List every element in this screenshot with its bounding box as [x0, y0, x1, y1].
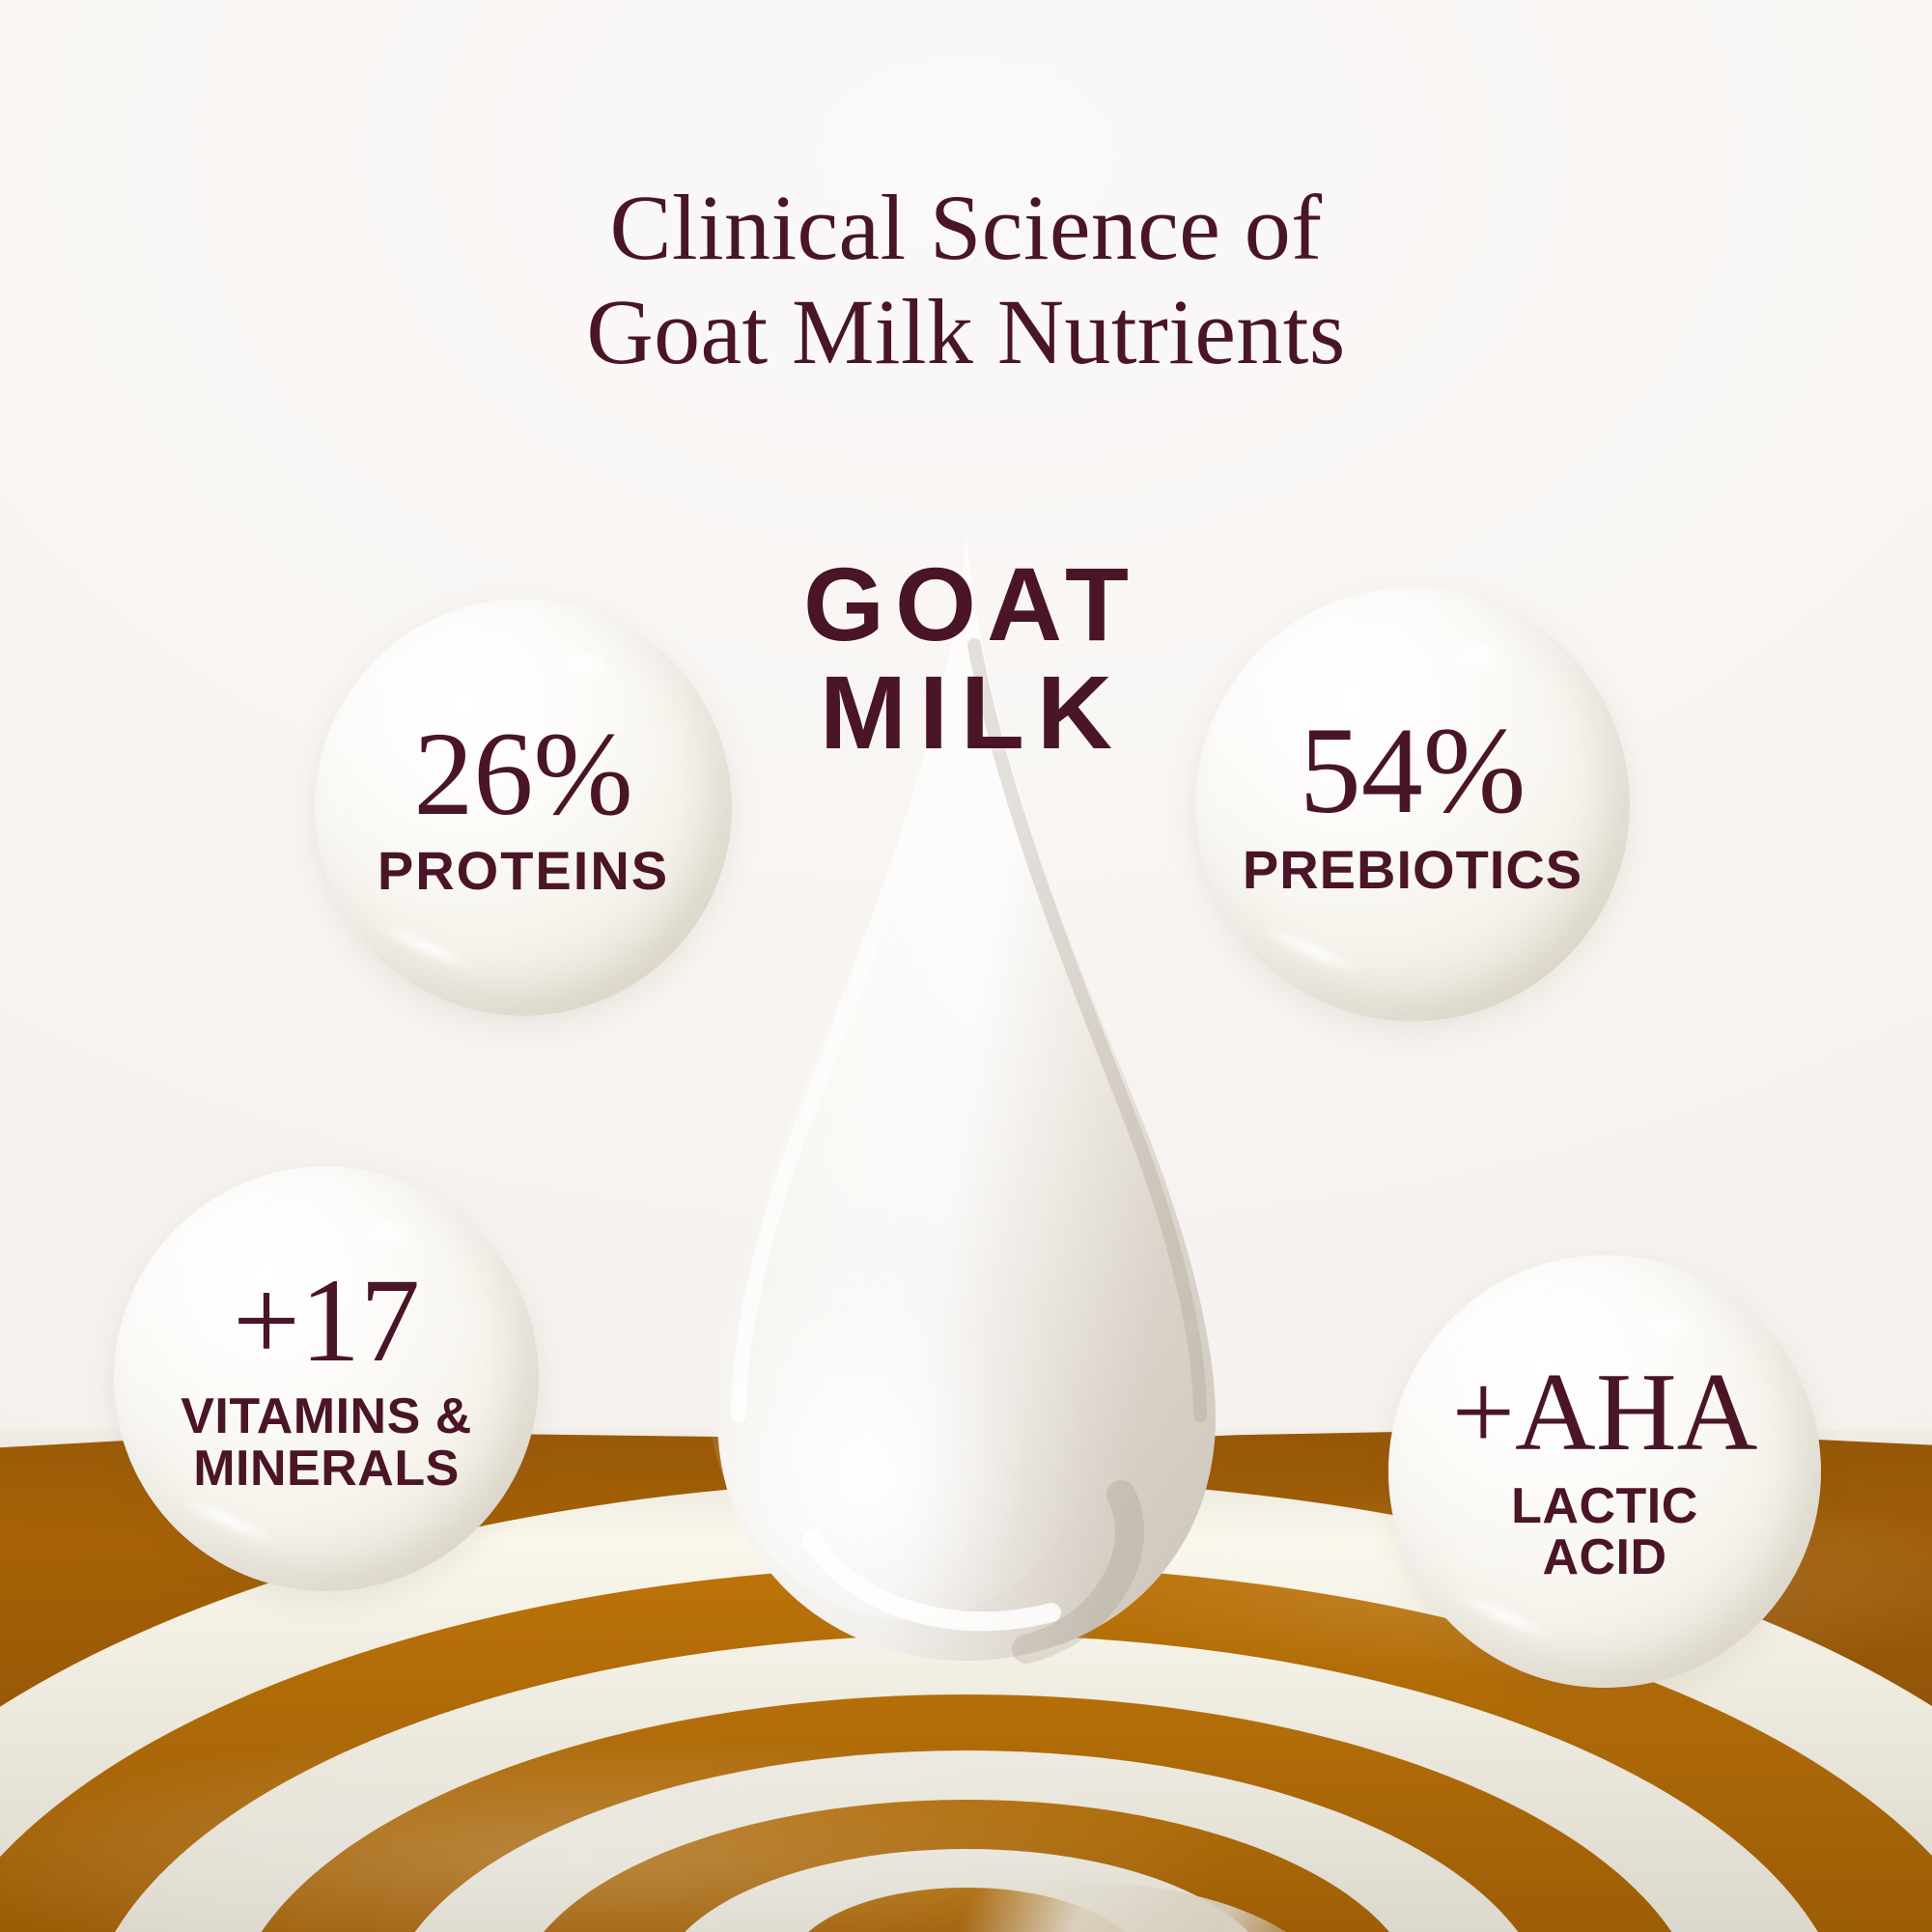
title-line-2: Goat Milk Nutrients: [0, 280, 1932, 384]
stat-caption-proteins-line-1: PROTEINS: [378, 843, 669, 898]
stat-value-vitamins: +17: [233, 1263, 420, 1378]
stat-caption-prebiotics-line-1: PREBIOTICS: [1243, 842, 1582, 897]
stat-caption-prebiotics: PREBIOTICS: [1243, 842, 1582, 897]
stat-bubble-vitamins: +17 VITAMINS & MINERALS: [114, 1166, 539, 1591]
stat-bubble-aha: +AHA LACTIC ACID: [1388, 1255, 1821, 1688]
stat-caption-proteins: PROTEINS: [378, 843, 669, 898]
milk-droplet-icon: [667, 529, 1266, 1668]
stat-caption-aha-line-1: LACTIC: [1511, 1481, 1698, 1532]
stat-caption-aha: LACTIC ACID: [1511, 1481, 1698, 1583]
stat-value-proteins: 26%: [413, 716, 632, 831]
stat-caption-vitamins-line-2: MINERALS: [181, 1443, 472, 1495]
stat-caption-aha-line-2: ACID: [1511, 1532, 1698, 1583]
stat-caption-vitamins-line-1: VITAMINS &: [181, 1391, 472, 1442]
page-title: Clinical Science of Goat Milk Nutrients: [0, 176, 1932, 383]
title-line-1: Clinical Science of: [0, 176, 1932, 280]
infographic-canvas: Clinical Science of Goat Milk Nutrients: [0, 0, 1932, 1932]
stat-value-prebiotics: 54%: [1300, 712, 1526, 830]
stat-value-aha: +AHA: [1452, 1359, 1758, 1467]
stat-caption-vitamins: VITAMINS & MINERALS: [181, 1391, 472, 1494]
